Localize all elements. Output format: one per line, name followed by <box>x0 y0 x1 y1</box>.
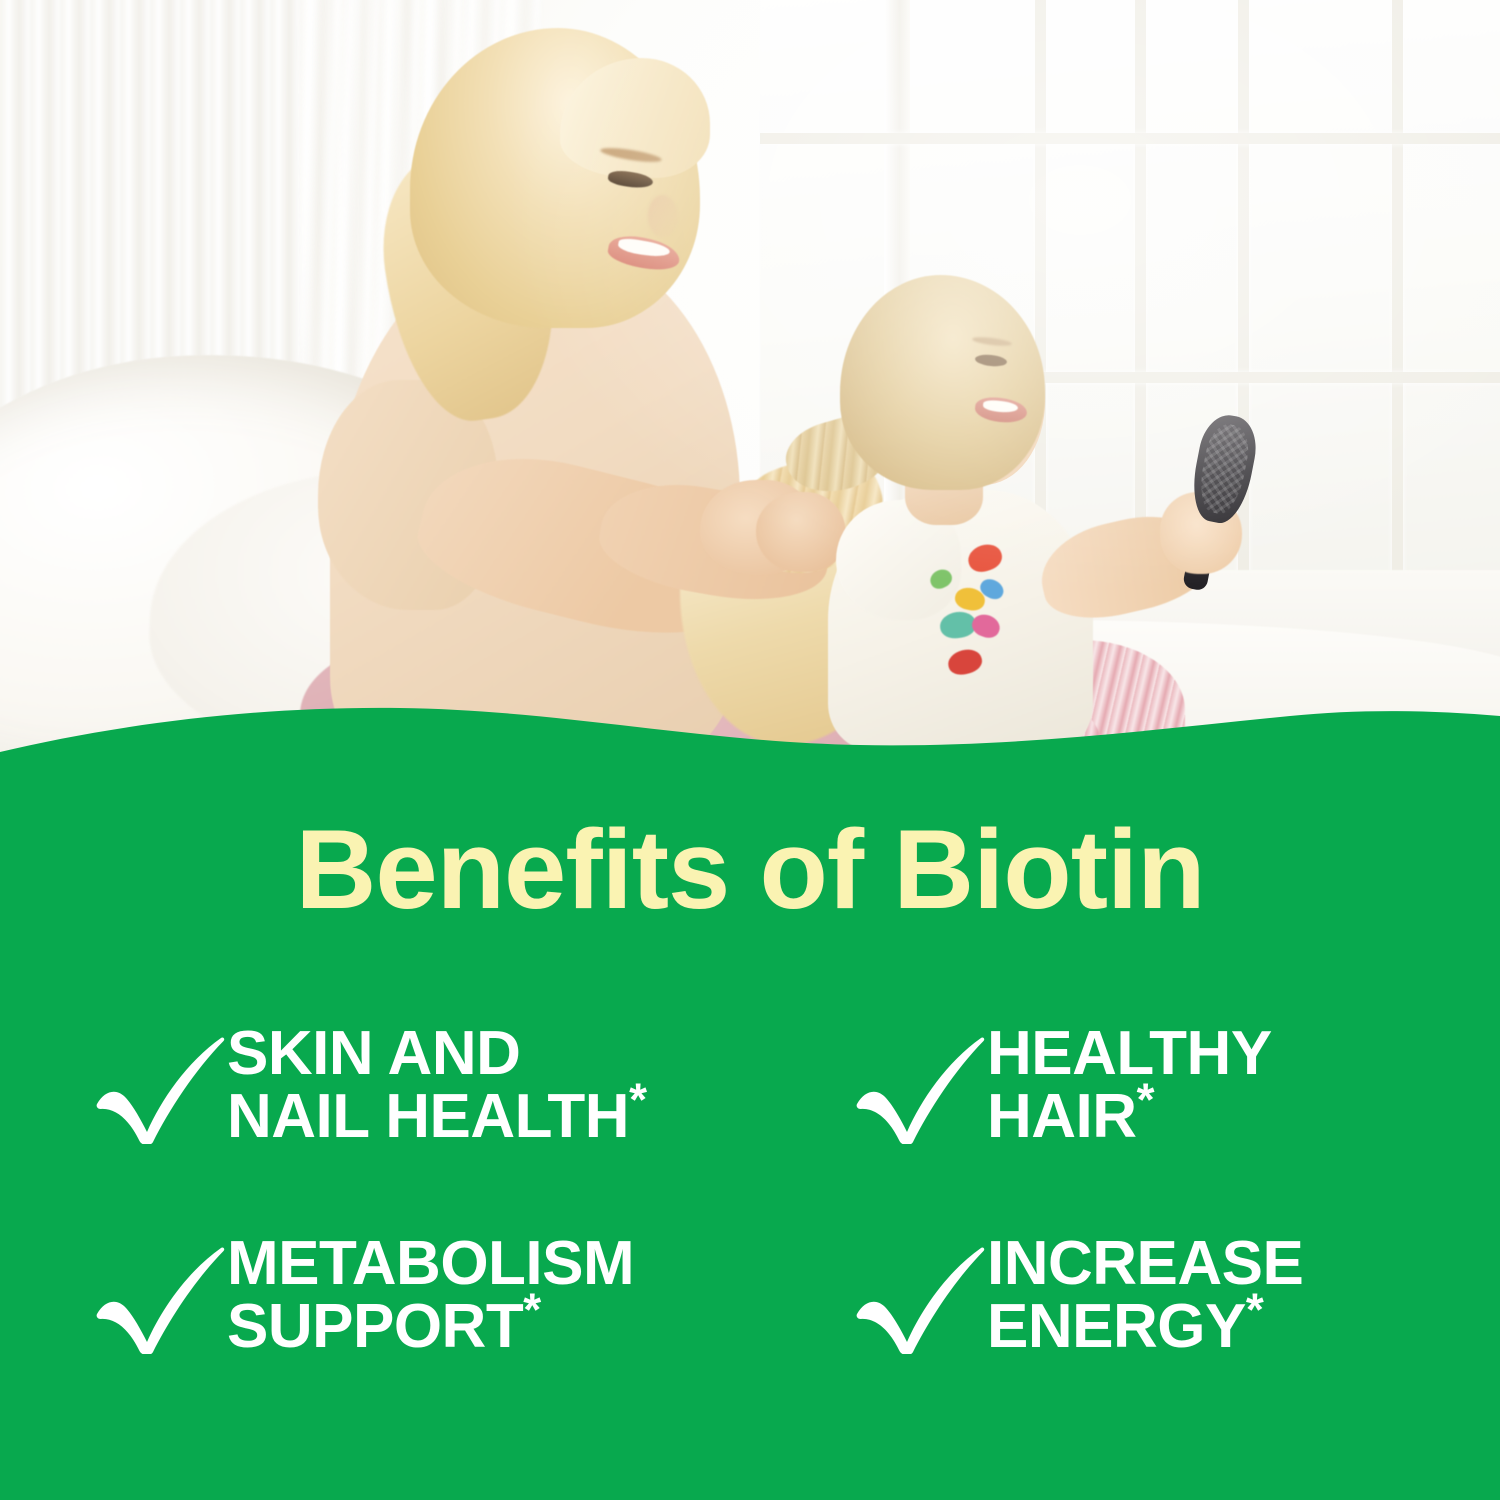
checkmark-icon <box>95 1236 227 1354</box>
benefit-label: HEALTHYHAIR* <box>987 1010 1272 1148</box>
benefit-item-increase-energy: INCREASEENERGY* <box>855 1220 1425 1430</box>
footnote-asterisk: * <box>523 1284 540 1336</box>
benefit-label: INCREASEENERGY* <box>987 1220 1303 1358</box>
benefit-item-healthy-hair: HEALTHYHAIR* <box>855 1010 1425 1220</box>
product-benefits-infographic: Benefits of Biotin SKIN ANDNAIL HEALTH* … <box>0 0 1500 1500</box>
checkmark-icon <box>855 1236 987 1354</box>
benefit-label: METABOLISMSUPPORT* <box>227 1220 634 1358</box>
page-title: Benefits of Biotin <box>0 814 1500 926</box>
footnote-asterisk: * <box>1246 1284 1263 1336</box>
footnote-asterisk: * <box>1137 1074 1154 1126</box>
benefit-label: SKIN ANDNAIL HEALTH* <box>227 1010 646 1148</box>
checkmark-icon <box>95 1026 227 1144</box>
footnote-asterisk: * <box>629 1074 646 1126</box>
benefit-item-skin-and-nail-health: SKIN ANDNAIL HEALTH* <box>95 1010 855 1220</box>
benefits-grid: SKIN ANDNAIL HEALTH* HEALTHYHAIR* METABO… <box>95 1010 1425 1430</box>
checkmark-icon <box>855 1026 987 1144</box>
benefit-item-metabolism-support: METABOLISMSUPPORT* <box>95 1220 855 1430</box>
panel-content: Benefits of Biotin SKIN ANDNAIL HEALTH* … <box>0 0 1500 1500</box>
